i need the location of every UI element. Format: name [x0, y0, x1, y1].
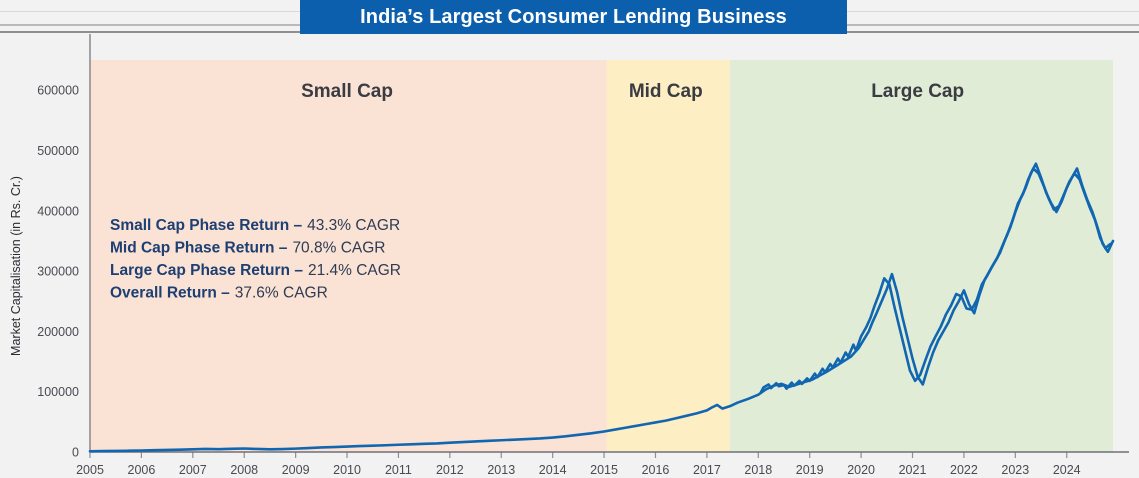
- x-tick-label: 2005: [76, 463, 104, 477]
- chart-title-bar: India’s Largest Consumer Lending Busines…: [300, 0, 847, 34]
- phase-band-large-cap: [730, 60, 1113, 452]
- x-tick-label: 2014: [539, 463, 567, 477]
- x-tick-label: 2022: [950, 463, 978, 477]
- chart-slide: India’s Largest Consumer Lending Busines…: [0, 0, 1139, 478]
- x-tick-label: 2020: [847, 463, 875, 477]
- y-tick-label: 500000: [37, 144, 79, 158]
- annotation-label: Large Cap Phase Return –: [110, 262, 303, 279]
- chart-title: India’s Largest Consumer Lending Busines…: [360, 6, 787, 29]
- y-tick-label: 200000: [37, 325, 79, 339]
- x-tick-label: 2019: [796, 463, 824, 477]
- x-tick-label: 2023: [1001, 463, 1029, 477]
- phase-band-label: Mid Cap: [629, 81, 703, 102]
- phase-band-mid-cap: [607, 60, 730, 452]
- chart-svg: Small CapMid CapLarge Cap 01000002000003…: [0, 34, 1139, 478]
- annotation-value: 43.3% CAGR: [307, 217, 400, 234]
- x-tick-label: 2007: [179, 463, 207, 477]
- x-tick-label: 2009: [282, 463, 310, 477]
- annotation-value: 70.8% CAGR: [292, 240, 385, 257]
- x-tick-label: 2016: [642, 463, 670, 477]
- x-tick-label: 2012: [436, 463, 464, 477]
- y-axis-ticks-group: 0100000200000300000400000500000600000: [37, 84, 79, 460]
- y-tick-label: 600000: [37, 84, 79, 98]
- x-tick-label: 2006: [128, 463, 156, 477]
- x-tick-label: 2015: [590, 463, 618, 477]
- x-tick-label: 2017: [693, 463, 721, 477]
- phase-band-label: Large Cap: [871, 81, 964, 102]
- x-axis-ticks-group: 2005200620072008200920102011201220132014…: [76, 452, 1081, 477]
- x-tick-label: 2008: [230, 463, 258, 477]
- y-tick-label: 100000: [37, 385, 79, 399]
- phase-band-label: Small Cap: [301, 81, 393, 102]
- x-tick-label: 2010: [333, 463, 361, 477]
- annotation-line: Overall Return –37.6% CAGR: [110, 285, 328, 302]
- annotation-line: Large Cap Phase Return –21.4% CAGR: [110, 262, 401, 279]
- x-tick-label: 2024: [1053, 463, 1081, 477]
- annotation-value: 37.6% CAGR: [235, 285, 328, 302]
- x-tick-label: 2021: [899, 463, 927, 477]
- y-axis-title-group: Market Capitalisation (in Rs. Cr.): [9, 176, 23, 356]
- y-axis-title: Market Capitalisation (in Rs. Cr.): [9, 176, 23, 356]
- x-tick-label: 2011: [385, 463, 412, 477]
- annotation-label: Small Cap Phase Return –: [110, 217, 302, 234]
- x-tick-label: 2018: [744, 463, 772, 477]
- y-tick-label: 300000: [37, 265, 79, 279]
- annotation-line: Small Cap Phase Return –43.3% CAGR: [110, 217, 400, 234]
- annotation-label: Overall Return –: [110, 285, 230, 302]
- y-tick-label: 0: [72, 446, 79, 460]
- annotation-line: Mid Cap Phase Return –70.8% CAGR: [110, 240, 385, 257]
- x-tick-label: 2013: [487, 463, 515, 477]
- y-tick-label: 400000: [37, 204, 79, 218]
- annotation-label: Mid Cap Phase Return –: [110, 240, 288, 257]
- chart-plot-area: Small CapMid CapLarge Cap 01000002000003…: [0, 34, 1139, 478]
- annotation-value: 21.4% CAGR: [308, 262, 401, 279]
